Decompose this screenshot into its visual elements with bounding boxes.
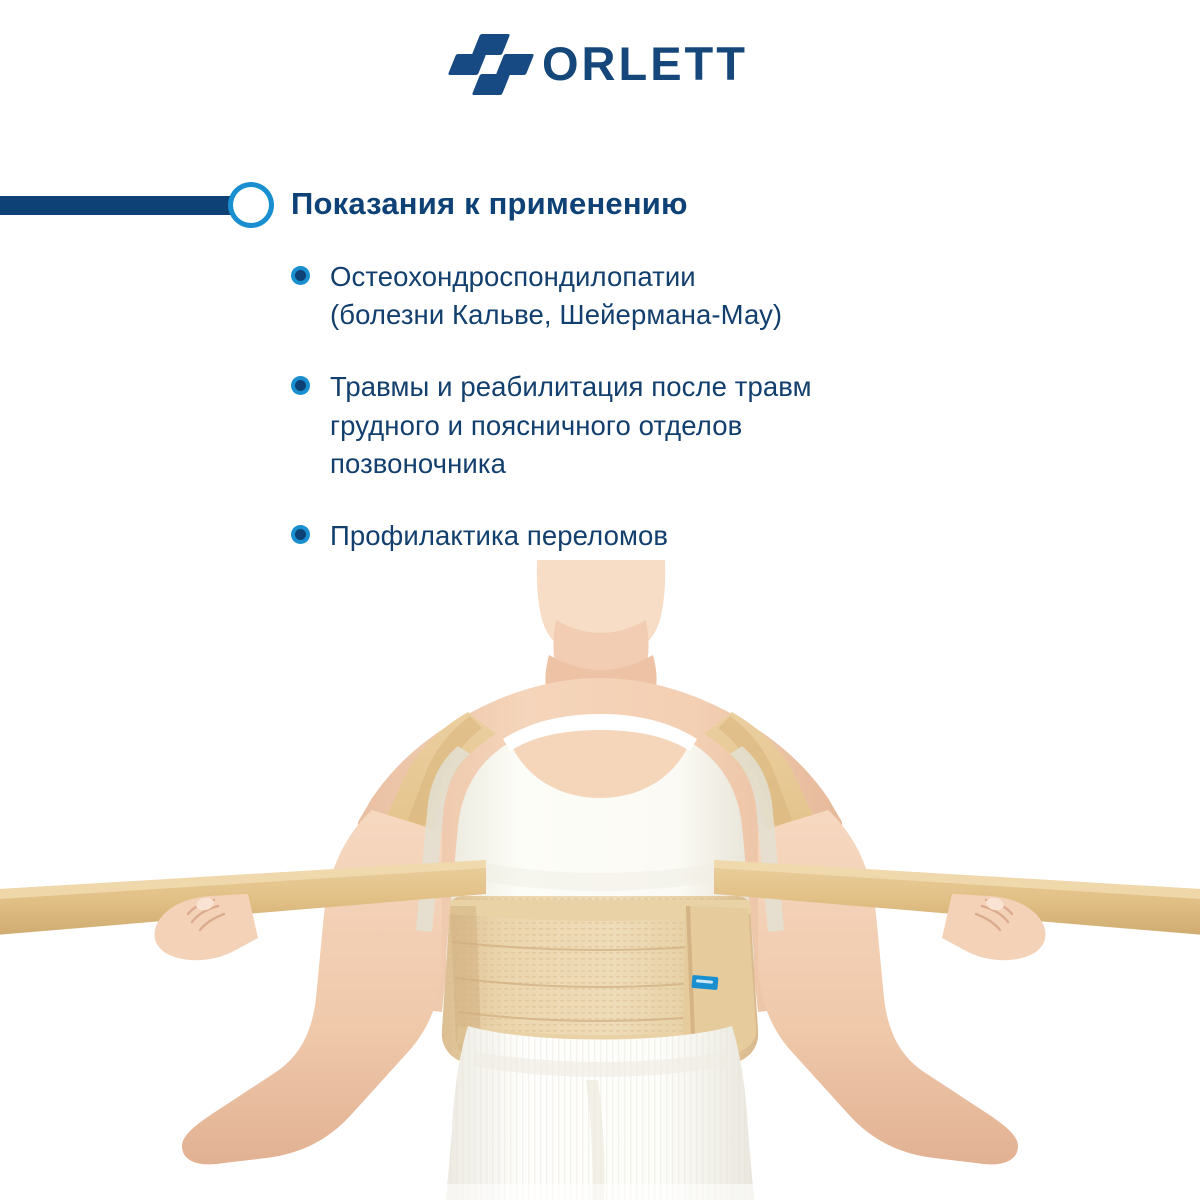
list-item: Остеохондроспондилопатии (болезни Кальве… [291,258,1011,334]
page-title: Показания к применению [291,185,688,222]
model-head-neck [537,560,665,693]
model-leggings [446,1026,754,1200]
list-item-label: Остеохондроспондилопатии (болезни Кальве… [330,258,782,334]
product-infographic-page: ORLETT Показания к применению Остеохондр… [0,0,1200,1200]
brand-wordmark: ORLETT [542,40,748,87]
heading-rule [0,196,252,215]
bullet-icon [291,376,310,395]
corset-brand-label [691,975,718,990]
list-item: Травмы и реабилитация после травм грудно… [291,368,1011,483]
list-item-label: Травмы и реабилитация после травм грудно… [330,368,812,483]
brand-logo: ORLETT [0,34,1200,92]
heading-marker-icon [228,182,274,228]
bullet-icon [291,525,310,544]
product-photo [0,560,1200,1200]
orlett-rhombus-mark-icon [452,34,524,92]
bullet-icon [291,266,310,285]
